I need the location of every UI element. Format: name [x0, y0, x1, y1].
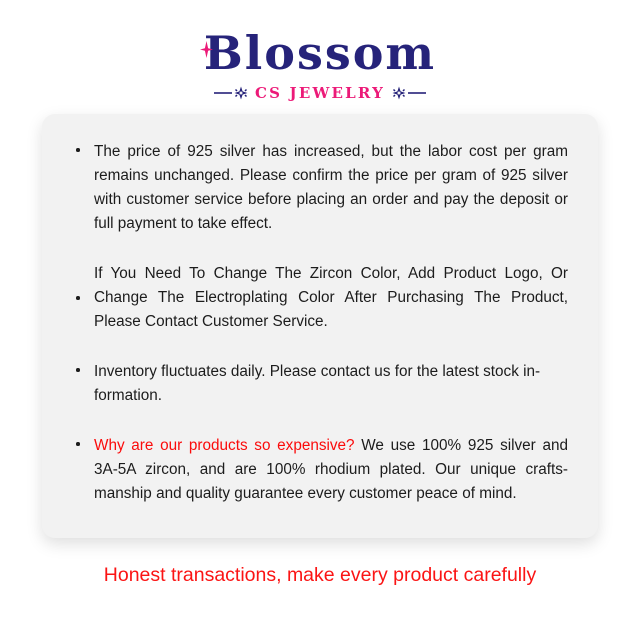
footer-slogan-text: Honest transactions, make every product … — [104, 564, 536, 586]
brand-wordmark: Blossom — [204, 30, 436, 76]
bullet-dot-icon — [76, 368, 80, 372]
brand-tagline-text: CS JEWELRY — [255, 86, 385, 101]
bullet-highlight-text: Why are our products so expensive? — [94, 437, 355, 454]
ornament-flourish-left-icon — [214, 85, 250, 101]
bullet-text: Inventory fluctuates daily. Please conta… — [94, 360, 568, 408]
bullet-text: If You Need To Change The Zircon Color, … — [94, 262, 568, 334]
logo-block: Blossom CS JEWELRY — [0, 0, 640, 101]
notice-card: The price of 925 silver has increased, b… — [42, 114, 598, 538]
list-item: Inventory fluctuates daily. Please conta… — [76, 360, 568, 408]
bullet-text-with-highlight: Why are our products so expensive? We us… — [94, 434, 568, 506]
bullet-dot-icon — [76, 296, 80, 300]
list-item: If You Need To Change The Zircon Color, … — [76, 262, 568, 334]
brand-name-text: Blossom — [204, 30, 436, 76]
bullet-text: The price of 925 silver has increased, b… — [94, 140, 568, 236]
bullet-dot-icon — [76, 148, 80, 152]
list-item: The price of 925 silver has increased, b… — [76, 140, 568, 236]
ornament-flourish-right-icon — [390, 85, 426, 101]
brand-tagline-row: CS JEWELRY — [0, 85, 640, 101]
notice-bullet-list: The price of 925 silver has increased, b… — [76, 140, 568, 506]
bullet-dot-icon — [76, 442, 80, 446]
list-item: Why are our products so expensive? We us… — [76, 434, 568, 506]
footer: Honest transactions, make every product … — [0, 566, 640, 586]
